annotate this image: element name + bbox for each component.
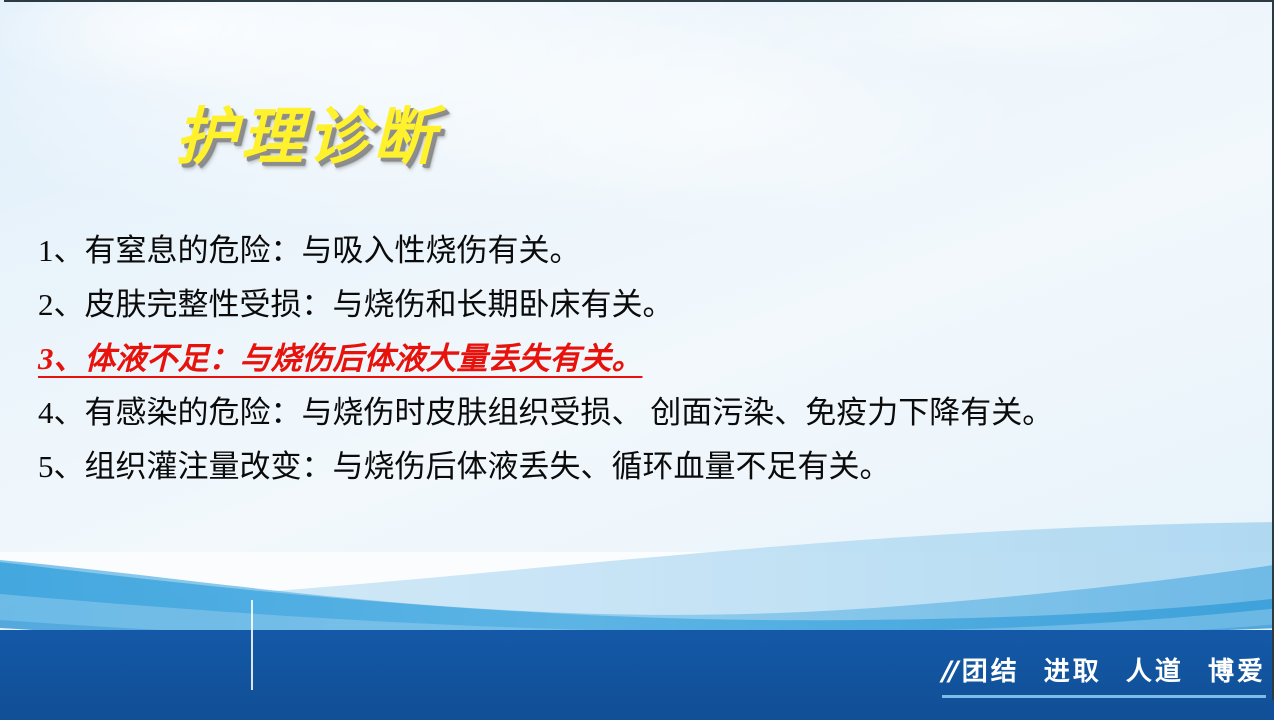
list-item: 1、有窒息的危险：与吸入性烧伤有关。 [38, 224, 1263, 278]
list-item-highlighted: 3、体液不足：与烧伤后体液大量丢失有关。 [38, 332, 1263, 386]
page-title: 护理诊断 [175, 86, 439, 176]
presentation-slide: // 团结 进取 人道 博爱 护理诊断 1、有窒息的危险：与吸入性烧伤有关。 2… [0, 0, 1280, 720]
slide-frame-top [4, 0, 1273, 2]
footer-slogan-text: 团结 进取 人道 博爱 [962, 651, 1266, 688]
footer-divider [251, 600, 253, 690]
footer-slogan: // 团结 进取 人道 博爱 [942, 651, 1266, 698]
slide-frame-right-margin [1274, 0, 1280, 720]
diagnosis-list: 1、有窒息的危险：与吸入性烧伤有关。 2、皮肤完整性受损：与烧伤和长期卧床有关。… [38, 224, 1263, 494]
list-item: 5、组织灌注量改变：与烧伤后体液丢失、循环血量不足有关。 [38, 440, 1263, 494]
list-item: 2、皮肤完整性受损：与烧伤和长期卧床有关。 [38, 278, 1263, 332]
list-item: 4、有感染的危险：与烧伤时皮肤组织受损、 创面污染、免疫力下降有关。 [38, 386, 1263, 440]
slash-mark-icon: // [942, 656, 956, 687]
